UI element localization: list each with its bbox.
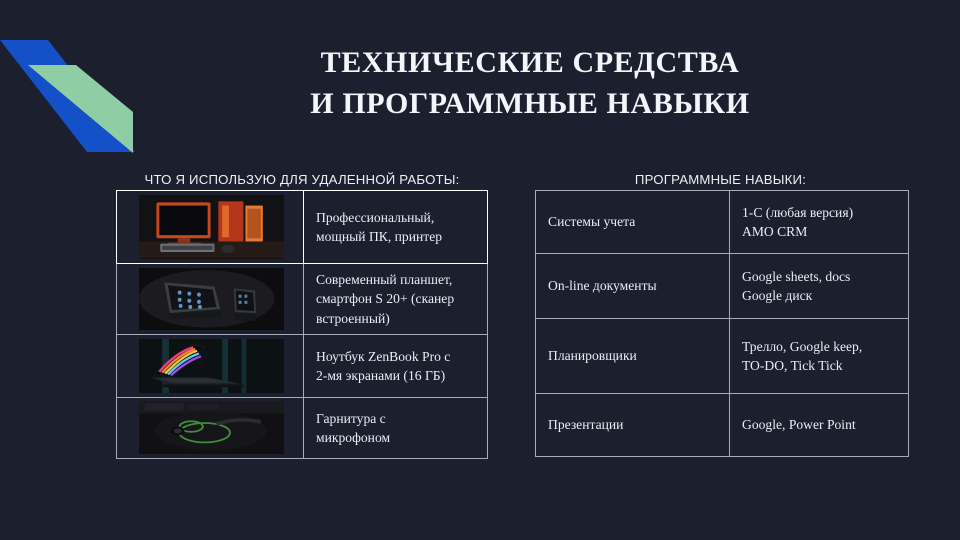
table-row: On-line документы Google sheets, docs Go… (536, 254, 909, 319)
slide-title: ТЕХНИЧЕСКИЕ СРЕДСТВА И ПРОГРАММНЫЕ НАВЫК… (180, 42, 880, 125)
ribbon-shapes-icon (0, 0, 170, 160)
tablet-smartphone-icon (139, 268, 284, 330)
table-row: Презентации Google, Power Point (536, 394, 909, 457)
table-row: Гарнитура с микрофоном (117, 397, 488, 458)
skill-tools: Трелло, Google keep, TO-DO, Tick Tick (730, 331, 908, 382)
skill-category: Планировщики (536, 340, 729, 371)
equipment-text-cell: Ноутбук ZenBook Pro с 2-мя экранами (16 … (304, 334, 488, 397)
skill-category-cell: On-line документы (536, 254, 730, 319)
equipment-image-cell (117, 397, 304, 458)
slide-title-line1: ТЕХНИЧЕСКИЕ СРЕДСТВА (321, 46, 740, 79)
slide-title-line2: И ПРОГРАММНЫЕ НАВЫКИ (180, 83, 880, 124)
table-row: Профессиональный, мощный ПК, принтер (117, 191, 488, 264)
headset-microphone-photo (117, 398, 303, 458)
skill-tools: Google sheets, docs Google диск (730, 261, 908, 312)
tablet-smartphone-photo (117, 264, 303, 334)
corner-ribbon-decoration (0, 0, 170, 160)
skill-category: On-line документы (536, 270, 729, 301)
desktop-pc-photo (117, 191, 303, 263)
laptop-zenbook-icon (139, 339, 284, 394)
skill-tools-cell: Трелло, Google keep, TO-DO, Tick Tick (730, 319, 909, 394)
equipment-text-cell: Современный планшет, смартфон S 20+ (ска… (304, 264, 488, 335)
skill-tools: Google, Power Point (730, 409, 908, 440)
skill-tools-cell: 1-С (любая версия) AMO CRM (730, 191, 909, 254)
skill-category-cell: Системы учета (536, 191, 730, 254)
right-section-header: ПРОГРАММНЫЕ НАВЫКИ: (535, 172, 906, 187)
skill-category-cell: Планировщики (536, 319, 730, 394)
skill-category: Презентации (536, 409, 729, 440)
left-section-header: ЧТО Я ИСПОЛЬЗУЮ ДЛЯ УДАЛЕННОЙ РАБОТЫ: (116, 172, 488, 187)
equipment-label: Ноутбук ZenBook Pro с 2-мя экранами (16 … (304, 341, 487, 392)
skill-category: Системы учета (536, 206, 729, 237)
equipment-label: Профессиональный, мощный ПК, принтер (304, 202, 487, 253)
equipment-image-cell (117, 191, 304, 264)
equipment-label: Современный планшет, смартфон S 20+ (ска… (304, 264, 487, 334)
table-row: Планировщики Трелло, Google keep, TO-DO,… (536, 319, 909, 394)
skill-tools: 1-С (любая версия) AMO CRM (730, 197, 908, 248)
software-skills-table: Системы учета 1-С (любая версия) AMO CRM… (535, 190, 909, 457)
equipment-table: Профессиональный, мощный ПК, принтер (116, 190, 488, 459)
table-row: Современный планшет, смартфон S 20+ (ска… (117, 264, 488, 335)
table-row: Ноутбук ZenBook Pro с 2-мя экранами (16 … (117, 334, 488, 397)
desktop-pc-icon (139, 195, 284, 258)
table-row: Системы учета 1-С (любая версия) AMO CRM (536, 191, 909, 254)
equipment-text-cell: Профессиональный, мощный ПК, принтер (304, 191, 488, 264)
equipment-image-cell (117, 264, 304, 335)
headset-microphone-icon (139, 401, 284, 454)
skill-tools-cell: Google, Power Point (730, 394, 909, 457)
equipment-image-cell (117, 334, 304, 397)
presentation-slide: ТЕХНИЧЕСКИЕ СРЕДСТВА И ПРОГРАММНЫЕ НАВЫК… (0, 0, 960, 540)
equipment-label: Гарнитура с микрофоном (304, 403, 487, 454)
skill-tools-cell: Google sheets, docs Google диск (730, 254, 909, 319)
equipment-text-cell: Гарнитура с микрофоном (304, 397, 488, 458)
skill-category-cell: Презентации (536, 394, 730, 457)
laptop-zenbook-photo (117, 335, 303, 397)
